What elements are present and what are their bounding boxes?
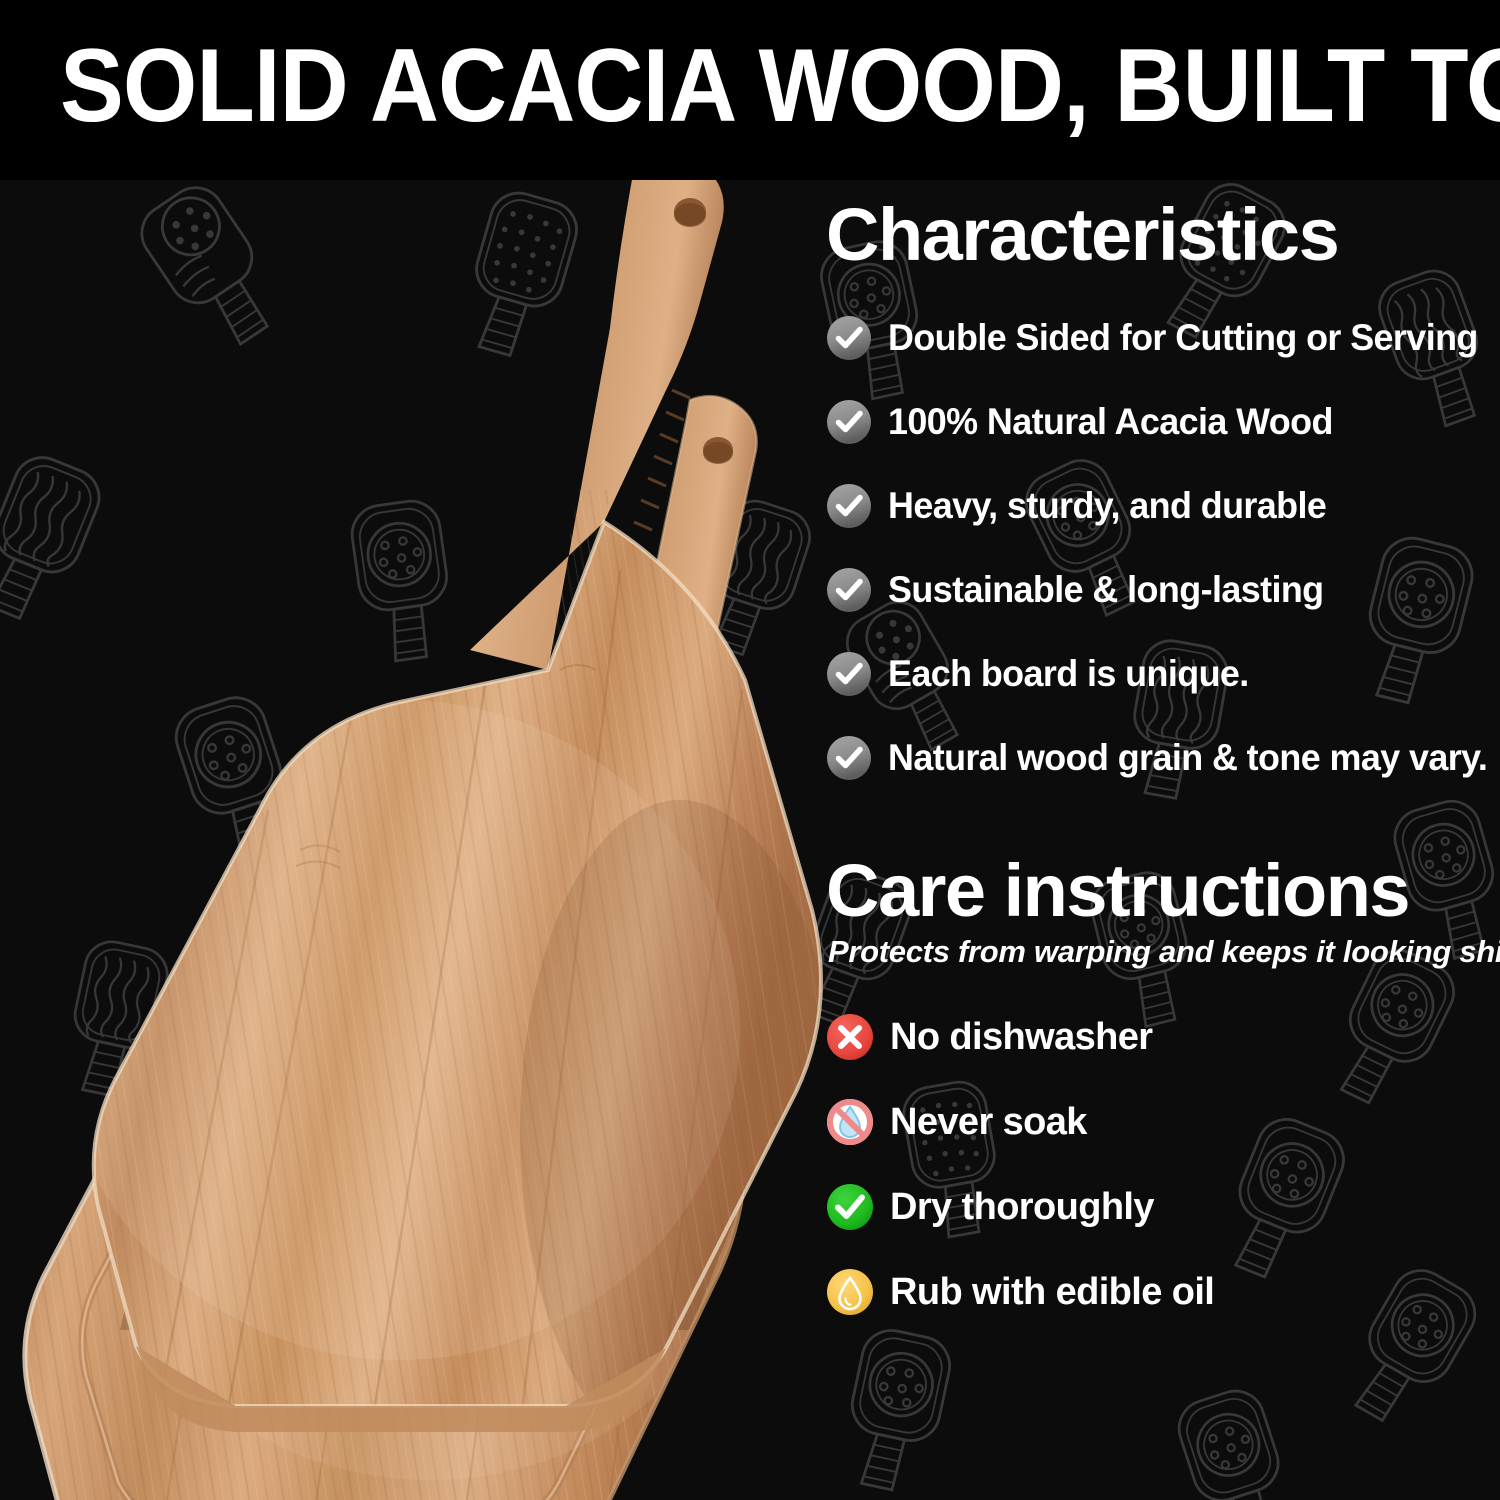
check-circle-green-icon — [826, 1183, 874, 1231]
list-item: Each board is unique. — [826, 632, 1486, 716]
list-item: No dishwasher — [826, 994, 1486, 1079]
list-item: Rub with edible oil — [826, 1249, 1486, 1334]
characteristics-section: Characteristics — [826, 196, 1486, 800]
list-item-label: Dry thoroughly — [890, 1186, 1154, 1228]
list-item-label: Sustainable & long-lasting — [888, 570, 1324, 610]
list-item: Sustainable & long-lasting — [826, 548, 1486, 632]
header-band: SOLID ACACIA WOOD, BUILT TO LAST — [0, 0, 1500, 180]
list-item-label: No dishwasher — [890, 1016, 1153, 1058]
check-circle-gray-icon — [826, 315, 872, 361]
page-title: SOLID ACACIA WOOD, BUILT TO LAST — [60, 30, 1440, 142]
no-water-prohibition-icon — [826, 1098, 874, 1146]
list-item: Natural wood grain & tone may vary. — [826, 716, 1486, 800]
characteristics-list: Double Sided for Cutting or Serving 100%… — [826, 296, 1486, 800]
check-circle-gray-icon — [826, 735, 872, 781]
care-instructions-list: No dishwasher Never soak — [826, 994, 1486, 1334]
care-instructions-subtitle: Protects from warping and keeps it looki… — [828, 934, 1486, 970]
list-item-label: Rub with edible oil — [890, 1271, 1214, 1313]
care-instructions-section: Care instructions Protects from warping … — [826, 852, 1486, 1334]
list-item-label: Heavy, sturdy, and durable — [888, 486, 1326, 526]
infographic-page: SOLID ACACIA WOOD, BUILT TO LAST Charact… — [0, 0, 1500, 1500]
x-circle-red-icon — [826, 1013, 874, 1061]
check-circle-gray-icon — [826, 483, 872, 529]
check-circle-gray-icon — [826, 651, 872, 697]
list-item-label: Each board is unique. — [888, 654, 1249, 694]
characteristics-heading: Characteristics — [826, 196, 1486, 274]
product-image-acacia-cutting-boards — [0, 150, 840, 1500]
oil-drop-circle-icon — [826, 1268, 874, 1316]
list-item-label: Natural wood grain & tone may vary. — [888, 738, 1487, 778]
list-item: Double Sided for Cutting or Serving — [826, 296, 1486, 380]
list-item: 100% Natural Acacia Wood — [826, 380, 1486, 464]
list-item: Dry thoroughly — [826, 1164, 1486, 1249]
list-item-label: Never soak — [890, 1101, 1087, 1143]
check-circle-gray-icon — [826, 399, 872, 445]
list-item: Heavy, sturdy, and durable — [826, 464, 1486, 548]
content-column: Characteristics — [826, 196, 1486, 1334]
care-instructions-heading: Care instructions — [826, 852, 1486, 930]
list-item: Never soak — [826, 1079, 1486, 1164]
check-circle-gray-icon — [826, 567, 872, 613]
list-item-label: 100% Natural Acacia Wood — [888, 402, 1333, 442]
list-item-label: Double Sided for Cutting or Serving — [888, 318, 1478, 358]
